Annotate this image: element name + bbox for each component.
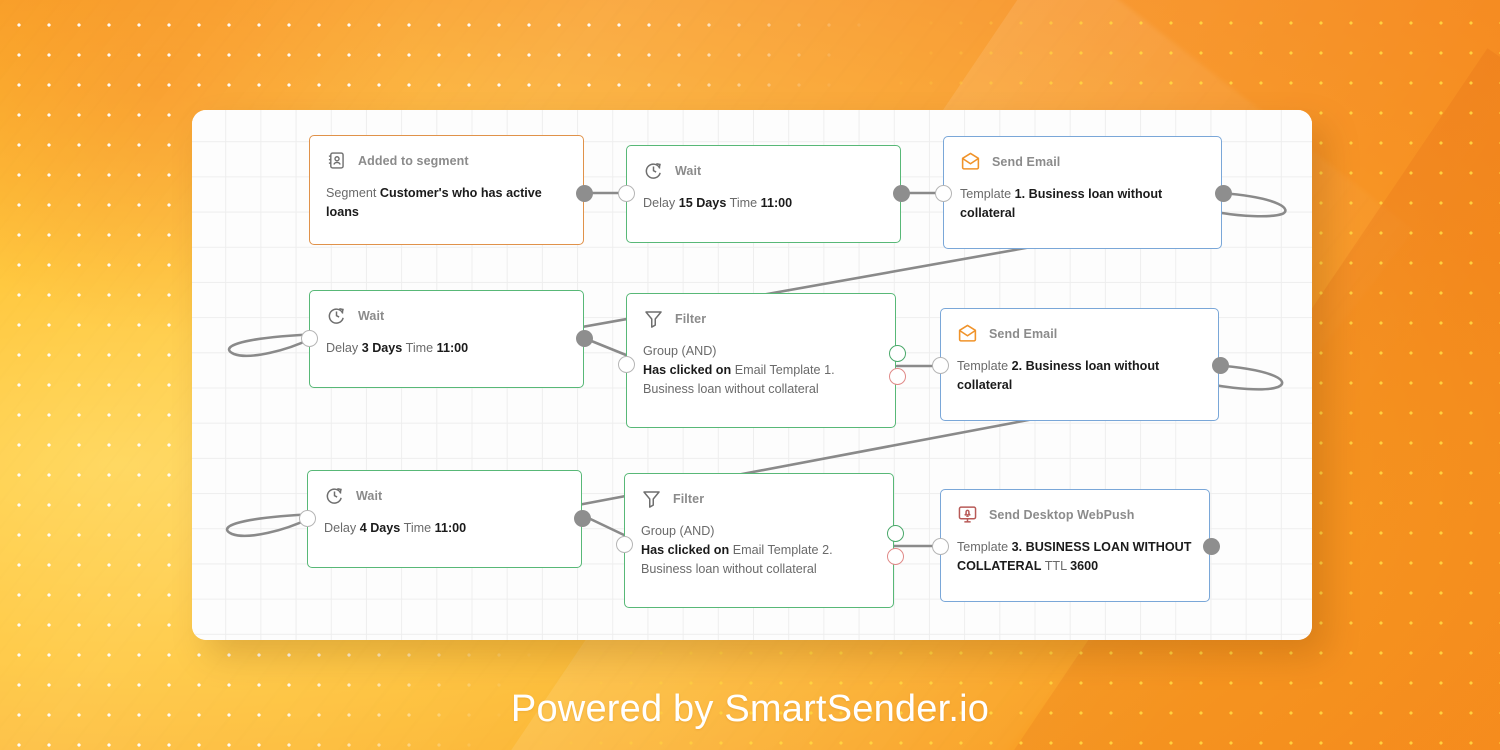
node-filter-2[interactable]: Filter Group (AND) Has clicked on Email … — [624, 473, 894, 608]
delay-value: 4 Days — [360, 521, 401, 535]
open-envelope-icon — [957, 323, 978, 344]
node-title: Wait — [356, 489, 382, 503]
port-in-send-email-2[interactable] — [932, 357, 949, 374]
segment-label: Segment — [326, 186, 376, 200]
funnel-icon — [643, 308, 664, 329]
node-header: Send Email — [944, 137, 1221, 172]
node-body: Delay 3 Days Time 11:00 — [310, 326, 583, 372]
node-title: Filter — [673, 492, 704, 506]
port-in-send-webpush-3[interactable] — [932, 538, 949, 555]
port-out-added-to-segment[interactable] — [576, 185, 593, 202]
time-value: 11:00 — [761, 196, 793, 210]
node-header: Filter — [627, 294, 895, 329]
node-header: Filter — [625, 474, 893, 509]
port-out-wait-15-days[interactable] — [893, 185, 910, 202]
delay-label: Delay — [324, 521, 356, 535]
delay-value: 15 Days — [679, 196, 727, 210]
filter-condition-label: Has clicked on — [643, 363, 731, 377]
node-title: Send Email — [992, 155, 1060, 169]
clock-refresh-icon — [326, 305, 347, 326]
time-label: Time — [730, 196, 758, 210]
filter-group-label: Group (AND) — [641, 522, 877, 541]
ttl-label: TTL — [1045, 559, 1067, 573]
time-value: 11:00 — [435, 521, 467, 535]
ttl-value: 3600 — [1070, 559, 1098, 573]
funnel-icon — [641, 488, 662, 509]
template-label: Template — [960, 187, 1011, 201]
node-title: Send Email — [989, 327, 1057, 341]
clock-refresh-icon — [643, 160, 664, 181]
node-send-webpush-3[interactable]: Send Desktop WebPush Template 3. BUSINES… — [940, 489, 1210, 602]
node-body: Delay 15 Days Time 11:00 — [627, 181, 900, 227]
node-header: Wait — [627, 146, 900, 181]
open-envelope-icon — [960, 151, 981, 172]
template-label: Template — [957, 540, 1008, 554]
filter-group-label: Group (AND) — [643, 342, 879, 361]
time-value: 11:00 — [437, 341, 469, 355]
port-out-wait-3-days[interactable] — [576, 330, 593, 347]
node-header: Send Email — [941, 309, 1218, 344]
node-wait-15-days[interactable]: Wait Delay 15 Days Time 11:00 — [626, 145, 901, 243]
workflow-canvas[interactable]: Added to segment Segment Customer's who … — [192, 110, 1312, 640]
node-body: Group (AND) Has clicked on Email Templat… — [625, 509, 893, 593]
node-send-email-1[interactable]: Send Email Template 1. Business loan wit… — [943, 136, 1222, 249]
delay-value: 3 Days — [362, 341, 403, 355]
port-out-false-filter-1[interactable] — [889, 368, 906, 385]
template-label: Template — [957, 359, 1008, 373]
port-out-send-email-2[interactable] — [1212, 357, 1229, 374]
node-body: Group (AND) Has clicked on Email Templat… — [627, 329, 895, 413]
port-out-false-filter-2[interactable] — [887, 548, 904, 565]
node-title: Added to segment — [358, 154, 469, 168]
node-body: Delay 4 Days Time 11:00 — [308, 506, 581, 552]
node-header: Wait — [310, 291, 583, 326]
port-in-filter-2[interactable] — [616, 536, 633, 553]
delay-label: Delay — [643, 196, 675, 210]
time-label: Time — [406, 341, 434, 355]
filter-condition-label: Has clicked on — [641, 543, 729, 557]
footer-branding: Powered by SmartSender.io — [0, 688, 1500, 731]
delay-label: Delay — [326, 341, 358, 355]
node-filter-1[interactable]: Filter Group (AND) Has clicked on Email … — [626, 293, 896, 428]
port-out-wait-4-days[interactable] — [574, 510, 591, 527]
node-body: Template 2. Business loan without collat… — [941, 344, 1218, 409]
node-body: Segment Customer's who has active loans — [310, 171, 583, 236]
port-in-filter-1[interactable] — [618, 356, 635, 373]
node-title: Send Desktop WebPush — [989, 508, 1135, 522]
port-in-wait-15-days[interactable] — [618, 185, 635, 202]
port-in-send-email-1[interactable] — [935, 185, 952, 202]
node-header: Send Desktop WebPush — [941, 490, 1209, 525]
node-body: Template 1. Business loan without collat… — [944, 172, 1221, 237]
node-title: Filter — [675, 312, 706, 326]
node-wait-3-days[interactable]: Wait Delay 3 Days Time 11:00 — [309, 290, 584, 388]
port-in-wait-4-days[interactable] — [299, 510, 316, 527]
node-header: Added to segment — [310, 136, 583, 171]
node-header: Wait — [308, 471, 581, 506]
node-send-email-2[interactable]: Send Email Template 2. Business loan wit… — [940, 308, 1219, 421]
screenshot-root: Added to segment Segment Customer's who … — [0, 0, 1500, 750]
node-title: Wait — [675, 164, 701, 178]
port-out-true-filter-1[interactable] — [889, 345, 906, 362]
port-out-true-filter-2[interactable] — [887, 525, 904, 542]
node-wait-4-days[interactable]: Wait Delay 4 Days Time 11:00 — [307, 470, 582, 568]
node-body: Template 3. BUSINESS LOAN WITHOUT COLLAT… — [941, 525, 1209, 590]
port-out-send-email-1[interactable] — [1215, 185, 1232, 202]
clock-refresh-icon — [324, 485, 345, 506]
desktop-push-icon — [957, 504, 978, 525]
port-in-wait-3-days[interactable] — [301, 330, 318, 347]
time-label: Time — [404, 521, 432, 535]
contact-card-icon — [326, 150, 347, 171]
node-title: Wait — [358, 309, 384, 323]
node-added-to-segment[interactable]: Added to segment Segment Customer's who … — [309, 135, 584, 245]
port-out-send-webpush-3[interactable] — [1203, 538, 1220, 555]
